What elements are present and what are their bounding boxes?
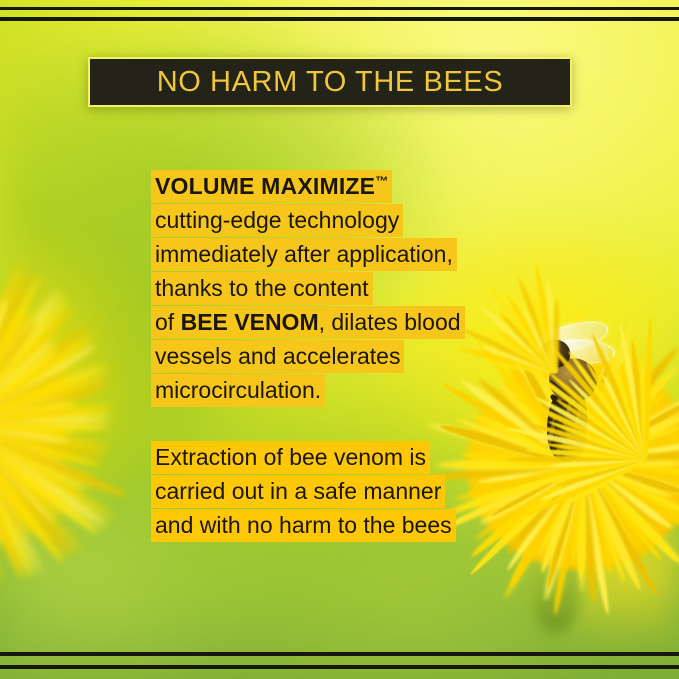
header-banner: NO HARM TO THE BEES bbox=[88, 57, 572, 107]
frame-rule-bottom-1 bbox=[0, 652, 679, 656]
frame-rule-top-2 bbox=[0, 17, 679, 21]
frame-rule-bottom-2 bbox=[0, 665, 679, 669]
copy-line-8: Extraction of bee venom is bbox=[151, 444, 571, 471]
body-copy: VOLUME MAXIMIZE™ cutting-edge technology… bbox=[151, 167, 571, 546]
copy-line-2: cutting-edge technology bbox=[151, 207, 571, 234]
copy-line-9: carried out in a safe manner bbox=[151, 478, 571, 505]
copy-line-1-text: VOLUME MAXIMIZE bbox=[155, 173, 375, 199]
copy-line-1: VOLUME MAXIMIZE™ bbox=[151, 167, 571, 200]
frame-rule-top-1 bbox=[0, 7, 679, 10]
paragraph-two: Extraction of bee venom is carried out i… bbox=[151, 444, 571, 539]
bee-venom-emphasis: BEE VENOM bbox=[181, 309, 319, 335]
copy-line-5: of BEE VENOM, dilates blood bbox=[151, 309, 571, 336]
copy-line-5-prefix: of bbox=[155, 309, 181, 335]
poster: NO HARM TO THE BEES VOLUME MAXIMIZE™ cut… bbox=[0, 0, 679, 679]
copy-line-3: immediately after application, bbox=[151, 241, 571, 268]
copy-line-5-suffix: , dilates blood bbox=[319, 309, 461, 335]
paragraph-one: VOLUME MAXIMIZE™ cutting-edge technology… bbox=[151, 167, 571, 404]
copy-line-4: thanks to the content bbox=[151, 275, 571, 302]
banner-title: NO HARM TO THE BEES bbox=[157, 66, 504, 99]
trademark-symbol: ™ bbox=[375, 173, 388, 188]
copy-line-7: microcirculation. bbox=[151, 377, 571, 404]
copy-line-10: and with no harm to the bees bbox=[151, 512, 571, 539]
copy-line-6: vessels and accelerates bbox=[151, 343, 571, 370]
